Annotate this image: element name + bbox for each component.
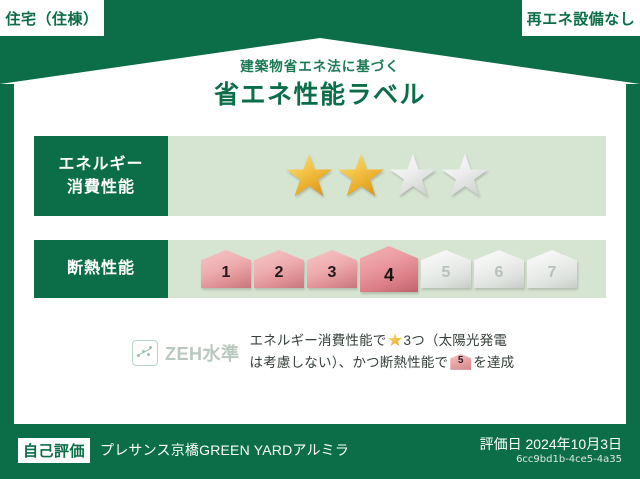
star-4-empty [441, 153, 489, 199]
star-2-filled [337, 153, 385, 199]
energy-performance-label: エネルギー 消費性能 [34, 136, 168, 216]
evaluation-id: 6cc9bd1b-4ce5-4a35 [516, 454, 622, 465]
insulation-level-4-current: 4 [360, 246, 418, 292]
insulation-level-3-number: 3 [328, 265, 337, 288]
energy-performance-row: エネルギー 消費性能 [34, 136, 606, 216]
self-evaluation-badge: 自己評価 [18, 438, 90, 463]
insulation-level-track: 1 2 3 4 5 6 7 [168, 240, 606, 298]
subtitle-text: 建築物省エネ法に基づく [14, 58, 626, 77]
insulation-level-1: 1 [201, 250, 251, 288]
title-block: 建築物省エネ法に基づく 省エネ性能ラベル [14, 58, 626, 113]
zeh-badge-label: ZEH水準 [165, 340, 240, 366]
zeh-description: エネルギー消費性能で3つ（太陽光発電 は考慮しない）、かつ断熱性能で5を達成 [250, 330, 603, 374]
zeh-standard-note: ZEH水準 エネルギー消費性能で3つ（太陽光発電 は考慮しない）、かつ断熱性能で… [132, 330, 602, 374]
insulation-level-4-number: 4 [384, 266, 394, 292]
zeh-chart-icon [132, 340, 158, 366]
energy-label-line1: エネルギー [58, 153, 143, 176]
zeh-desc-part3: を達成 [473, 355, 514, 370]
insulation-level-3: 3 [307, 250, 357, 288]
zeh-desc-part2: は考慮しない）、かつ断熱性能で [250, 355, 449, 370]
insulation-level-2-number: 2 [275, 265, 284, 288]
insulation-level-7: 7 [527, 250, 577, 288]
building-type-tag: 住宅（住棟） [0, 0, 104, 36]
insulation-level-7-number: 7 [548, 265, 557, 288]
insulation-label-line1: 断熱性能 [67, 257, 135, 280]
insulation-level-6-number: 6 [495, 265, 504, 288]
star-3-empty [389, 153, 437, 199]
inline-house-number: 5 [458, 356, 464, 368]
zeh-desc-part1: エネルギー消費性能で [250, 333, 387, 348]
insulation-level-6: 6 [474, 250, 524, 288]
zeh-desc-star-count: 3つ（太陽光発電 [404, 333, 508, 348]
page-title: 省エネ性能ラベル [14, 79, 626, 113]
energy-performance-label: 住宅（住棟） 再エネ設備なし 建築物省エネ法に基づく 省エネ性能ラベル エネルギ… [0, 0, 640, 479]
star-1-filled [285, 153, 333, 199]
footer-bar: 自己評価 プレサンス京橋GREEN YARDアルミラ 評価日 2024年10月3… [0, 424, 640, 479]
inline-star-icon [388, 333, 403, 347]
zeh-badge: ZEH水準 [132, 330, 240, 366]
insulation-level-2: 2 [254, 250, 304, 288]
insulation-level-5-number: 5 [442, 265, 451, 288]
insulation-performance-row: 断熱性能 1 2 3 4 5 6 [34, 240, 606, 298]
evaluation-date: 評価日 2024年10月3日 [480, 434, 622, 454]
insulation-performance-label: 断熱性能 [34, 240, 168, 298]
star-rating-track [168, 136, 606, 216]
inline-house-icon: 5 [450, 354, 471, 370]
insulation-level-5: 5 [421, 250, 471, 288]
building-name: プレサンス京橋GREEN YARDアルミラ [100, 440, 349, 460]
renewable-energy-tag: 再エネ設備なし [522, 0, 640, 36]
label-card: 建築物省エネ法に基づく 省エネ性能ラベル エネルギー 消費性能 断熱性能 [14, 44, 626, 424]
energy-label-line2: 消費性能 [67, 176, 135, 199]
insulation-level-1-number: 1 [222, 265, 231, 288]
